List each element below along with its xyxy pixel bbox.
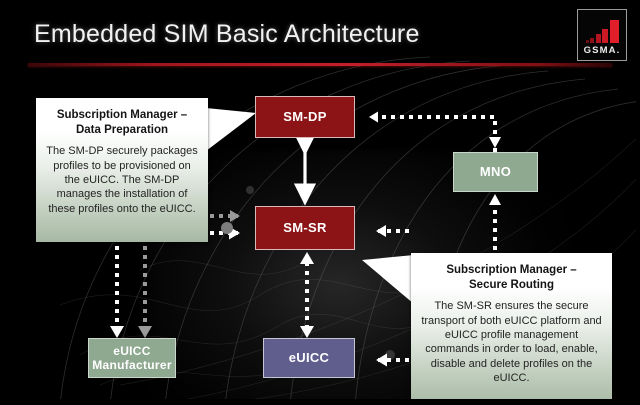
node-sm-dp-label: SM-DP [283, 109, 326, 125]
callout-left-tail [206, 108, 256, 151]
callout-sm-sr-heading: Subscription Manager – Secure Routing [421, 263, 602, 292]
arrowhead-smsr-to-mno [489, 194, 501, 205]
node-euicc[interactable]: eUICC [263, 338, 355, 378]
arrowhead-calloutleft-smsr-lower [229, 227, 240, 240]
node-sm-dp[interactable]: SM-DP [255, 96, 355, 138]
callout-sm-sr-body: The SM-SR ensures the secure transport o… [421, 299, 602, 385]
node-euicc-manufacturer-label: eUICC Manufacturer [89, 344, 175, 373]
node-euicc-manufacturer[interactable]: eUICC Manufacturer [88, 338, 176, 378]
connector-mno-to-smdp [369, 117, 495, 152]
callout-sm-dp: Subscription Manager – Data Preparation … [36, 98, 208, 242]
callout-sm-dp-body: The SM-DP securely packages profiles to … [46, 144, 198, 215]
callout-sm-sr-heading-line2: Secure Routing [421, 278, 602, 293]
callout-sm-dp-heading-line1: Subscription Manager – [46, 108, 198, 123]
arrowhead-into-mno [489, 137, 501, 148]
frame-bottom [0, 399, 640, 405]
frame-left [0, 0, 5, 405]
node-mno-label: MNO [480, 164, 511, 180]
gsma-logo-text: GSMA. [584, 46, 621, 56]
callout-sm-sr: Subscription Manager – Secure Routing Th… [411, 253, 612, 405]
node-sm-sr-label: SM-SR [283, 220, 326, 236]
gsma-logo-bars-icon [583, 19, 621, 43]
arrowhead-calloutleft-euiccmfr-grey [138, 326, 152, 338]
arrowhead-calloutright-euicc [376, 354, 387, 367]
arrowhead-callout-right-to-smsr [376, 225, 386, 237]
callout-sm-dp-heading-line2: Data Preparation [46, 123, 198, 138]
title-underline-rule [28, 63, 612, 66]
callout-right-tail [362, 255, 414, 304]
arrowhead-calloutleft-smsr-upper [230, 210, 240, 222]
node-euicc-label: eUICC [289, 350, 330, 366]
arrowhead-smsr-euicc-down [300, 326, 314, 338]
arrowhead-smsr-euicc-up [300, 252, 314, 264]
connector-junction-dot [221, 222, 233, 234]
arrowhead-calloutleft-euiccmfr-white [110, 326, 124, 338]
frame-right [636, 0, 640, 405]
slide-canvas: Embedded SIM Basic Architecture GSMA. [0, 0, 640, 405]
page-title: Embedded SIM Basic Architecture [34, 20, 420, 49]
arrowhead-mno-to-smdp [369, 112, 378, 123]
callout-sm-dp-heading: Subscription Manager – Data Preparation [46, 108, 198, 137]
gsma-logo: GSMA. [577, 9, 627, 61]
callout-sm-sr-heading-line1: Subscription Manager – [421, 263, 602, 278]
node-sm-sr[interactable]: SM-SR [255, 206, 355, 250]
node-mno[interactable]: MNO [453, 152, 538, 192]
